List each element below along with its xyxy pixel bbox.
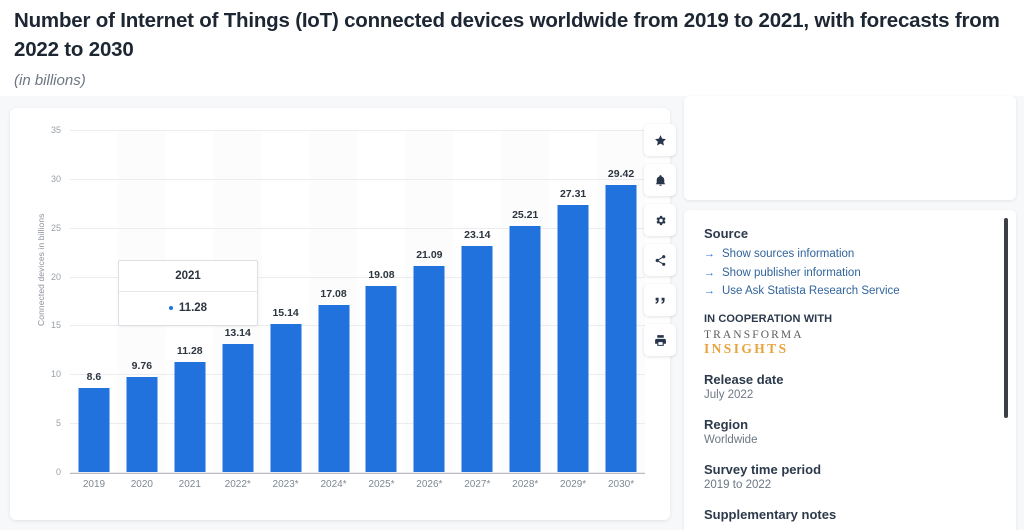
meta-value: July 2022 [704, 389, 994, 401]
bar-value-label: 19.08 [368, 269, 394, 281]
page-title: Number of Internet of Things (IoT) conne… [14, 6, 1004, 64]
link-show-publisher[interactable]: → Show publisher information [704, 264, 994, 283]
bar-value-label: 25.21 [512, 209, 538, 221]
star-icon [654, 134, 667, 147]
citation-button[interactable] [644, 284, 676, 316]
share-icon [654, 254, 667, 267]
meta-key: Region [704, 417, 994, 432]
link-label: Show publisher information [722, 264, 861, 283]
bar[interactable] [126, 377, 157, 472]
bar-value-label: 13.14 [225, 327, 251, 339]
print-button[interactable] [644, 324, 676, 356]
top-panel-card [684, 96, 1016, 200]
x-axis-tick-label: 2027* [464, 479, 490, 490]
x-axis-tick-label: 2028* [512, 479, 538, 490]
bar-group[interactable]: 25.212028* [501, 130, 549, 472]
bar-group[interactable]: 19.082025* [358, 130, 406, 472]
meta-supplementary-notes: Supplementary notes [704, 507, 994, 522]
x-axis-tick-label: 2026* [416, 479, 442, 490]
bar[interactable] [318, 305, 349, 472]
source-heading: Source [704, 226, 994, 241]
bar-group[interactable]: 21.092026* [405, 130, 453, 472]
bar-value-label: 21.09 [416, 249, 442, 261]
link-show-sources[interactable]: → Show sources information [704, 245, 994, 264]
transforma-insights-logo: TRANSFORMA INSIGHTS [704, 330, 994, 356]
bar-group[interactable]: 23.142027* [453, 130, 501, 472]
bar-value-label: 9.76 [132, 360, 152, 372]
meta-region: Region Worldwide [704, 417, 994, 446]
bar-group[interactable]: 15.142023* [262, 130, 310, 472]
right-rail: Source → Show sources information → Show… [684, 96, 1024, 530]
link-ask-statista[interactable]: → Use Ask Statista Research Service [704, 282, 994, 301]
quote-icon [654, 294, 667, 307]
tooltip-category: 2021 [119, 261, 257, 292]
bar-value-label: 29.42 [608, 168, 634, 180]
arrow-right-icon: → [704, 264, 715, 283]
bar-group[interactable]: 8.62019 [70, 130, 118, 472]
cooperation-heading: IN COOPERATION WITH [704, 313, 994, 325]
chart-action-toolbar [644, 124, 676, 356]
x-axis-tick-label: 2020 [131, 479, 153, 490]
x-axis-tick-label: 2023* [273, 479, 299, 490]
bar-group[interactable]: 17.082024* [310, 130, 358, 472]
alert-button[interactable] [644, 164, 676, 196]
meta-value: Worldwide [704, 434, 994, 446]
meta-key: Release date [704, 372, 994, 387]
chart-tooltip: 2021 11.28 [118, 260, 258, 326]
bar[interactable] [606, 185, 637, 472]
bar-value-label: 8.6 [87, 371, 102, 383]
bar[interactable] [462, 246, 493, 472]
bar-value-label: 17.08 [320, 288, 346, 300]
y-axis-tick-label: 0 [56, 467, 61, 477]
gridline [70, 472, 645, 473]
tooltip-value-row: 11.28 [119, 292, 257, 325]
page-body: Connected devices in billions 0510152025… [0, 96, 1024, 530]
logo-top-text: TRANSFORMA [704, 330, 994, 342]
bar[interactable] [414, 266, 445, 472]
arrow-right-icon: → [704, 282, 715, 301]
x-axis-tick-label: 2030* [608, 479, 634, 490]
y-axis-title: Connected devices in billions [36, 213, 46, 326]
y-axis-tick-label: 10 [51, 369, 61, 379]
x-axis-tick-label: 2024* [320, 479, 346, 490]
bar-group[interactable]: 29.422030* [597, 130, 645, 472]
bar[interactable] [78, 388, 109, 472]
y-axis-tick-label: 5 [56, 418, 61, 428]
chart-card: Connected devices in billions 0510152025… [10, 108, 670, 520]
x-axis-tick-label: 2022* [225, 479, 251, 490]
bell-icon [654, 174, 667, 187]
x-axis-tick-label: 2019 [83, 479, 105, 490]
y-axis-tick-label: 20 [51, 272, 61, 282]
arrow-right-icon: → [704, 245, 715, 264]
info-panel-card: Source → Show sources information → Show… [684, 210, 1016, 530]
chart-area: Connected devices in billions 0510152025… [10, 108, 670, 520]
tooltip-value: 11.28 [179, 302, 207, 314]
bar-value-label: 11.28 [177, 345, 203, 357]
bar[interactable] [174, 362, 205, 472]
meta-key: Survey time period [704, 462, 994, 477]
meta-key: Supplementary notes [704, 507, 994, 522]
bar[interactable] [510, 226, 541, 472]
bar-group[interactable]: 27.312029* [549, 130, 597, 472]
logo-bottom-text: INSIGHTS [704, 342, 994, 356]
link-label: Show sources information [722, 245, 854, 264]
page-subtitle: (in billions) [14, 71, 1008, 91]
meta-survey-period: Survey time period 2019 to 2022 [704, 462, 994, 491]
settings-button[interactable] [644, 204, 676, 236]
bar[interactable] [558, 205, 589, 472]
bar-value-label: 27.31 [560, 188, 586, 200]
bar-value-label: 15.14 [272, 307, 298, 319]
x-axis-tick-label: 2025* [368, 479, 394, 490]
meta-value: 2019 to 2022 [704, 479, 994, 491]
bar[interactable] [366, 286, 397, 472]
gear-icon [654, 214, 667, 227]
y-axis-tick-label: 35 [51, 125, 61, 135]
series-color-dot [169, 306, 173, 310]
page-header: Number of Internet of Things (IoT) conne… [0, 0, 1024, 91]
sidebar-scrollbar[interactable] [1004, 218, 1008, 418]
favorite-button[interactable] [644, 124, 676, 156]
y-axis-tick-label: 25 [51, 223, 61, 233]
bar[interactable] [270, 324, 301, 472]
y-axis-tick-label: 30 [51, 174, 61, 184]
bar[interactable] [222, 344, 253, 472]
print-icon [654, 334, 667, 347]
y-axis-tick-label: 15 [51, 320, 61, 330]
share-button[interactable] [644, 244, 676, 276]
statista-chart-page: Number of Internet of Things (IoT) conne… [0, 0, 1024, 530]
bar-value-label: 23.14 [464, 229, 490, 241]
meta-release-date: Release date July 2022 [704, 372, 994, 401]
link-label: Use Ask Statista Research Service [722, 282, 900, 301]
x-axis-tick-label: 2021 [179, 479, 201, 490]
x-axis-tick-label: 2029* [560, 479, 586, 490]
